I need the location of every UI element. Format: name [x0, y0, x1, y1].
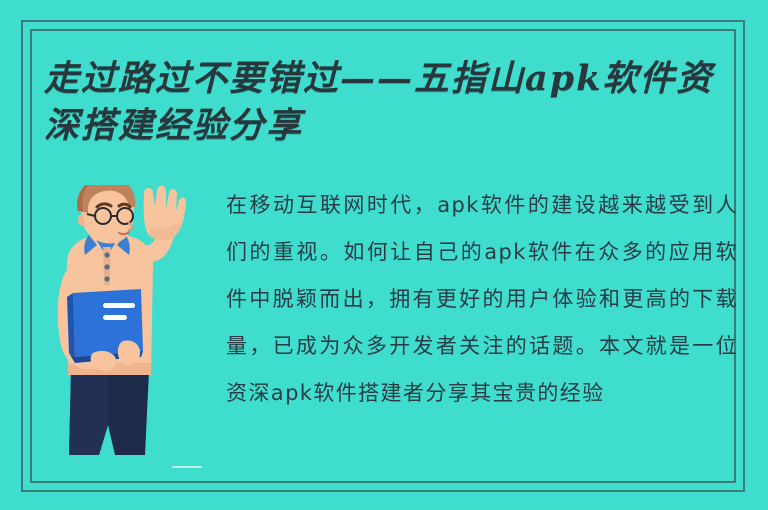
page-title: 走过路过不要错过——五指山apk软件资深搭建经验分享 — [44, 55, 734, 149]
ground-accent-line — [172, 466, 202, 468]
article-cover-card: 走过路过不要错过——五指山apk软件资深搭建经验分享 在移动互联网时代，apk软… — [0, 0, 768, 510]
character-illustration — [45, 185, 220, 480]
article-body-paragraph: 在移动互联网时代，apk软件的建设越来越受到人们的重视。如何让自己的apk软件在… — [226, 182, 738, 417]
